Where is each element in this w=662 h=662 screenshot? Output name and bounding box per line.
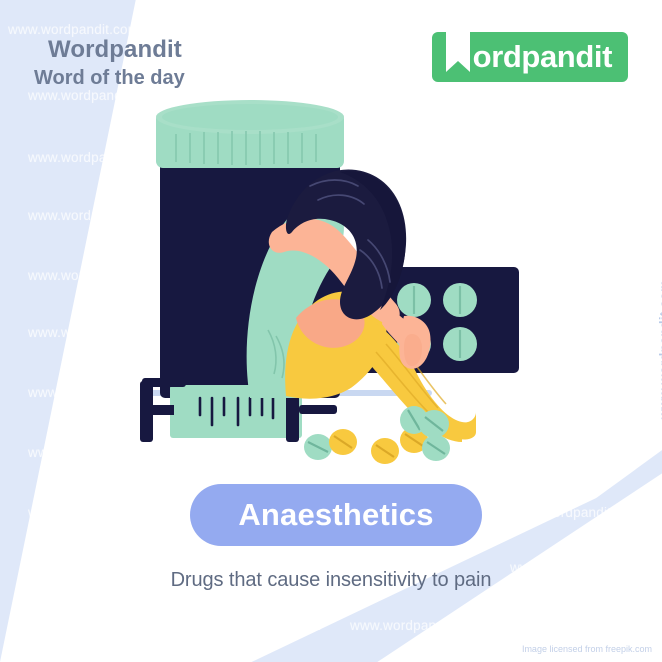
logo-text: ordpandit bbox=[473, 41, 612, 72]
word-definition: Drugs that cause insensitivity to pain bbox=[0, 569, 662, 592]
brand-block: Wordpandit Word of the day bbox=[48, 36, 185, 90]
image-credit: Image licensed from freepik.com bbox=[522, 644, 652, 654]
word-badge: Anaesthetics bbox=[190, 484, 482, 546]
brand-title: Wordpandit bbox=[48, 36, 185, 64]
word-of-the-day: Anaesthetics bbox=[238, 497, 433, 533]
illustration bbox=[0, 0, 662, 662]
word-of-the-day-card: www.wordpandit.com www.wordpandit.com ww… bbox=[0, 0, 662, 662]
brand-subtitle: Word of the day bbox=[34, 66, 185, 90]
scattered-pills-group bbox=[304, 406, 450, 464]
bookmark-icon bbox=[444, 30, 472, 76]
wordpandit-logo[interactable]: ordpandit bbox=[432, 32, 628, 82]
